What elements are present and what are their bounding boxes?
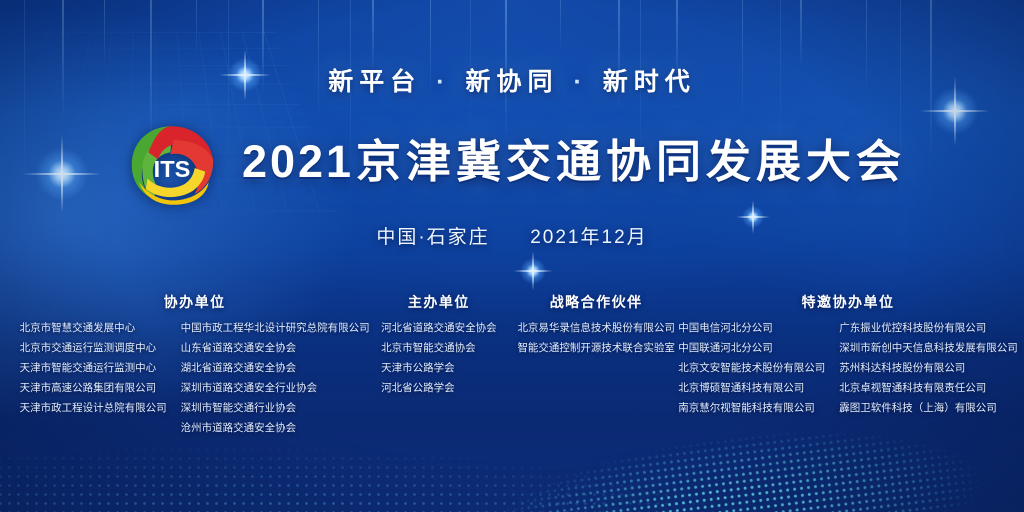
org-item: 北京市智慧交通发展中心 xyxy=(20,321,167,336)
org-item: 天津市政工程设计总院有限公司 xyxy=(20,401,167,416)
org-section-organizers: 主办单位 河北省道路交通安全协会 北京市智能交通协会 天津市公路学会 河北省公路… xyxy=(373,292,504,396)
org-column: 北京市智慧交通发展中心 北京市交通运行监测调度中心 天津市智能交通运行监测中心 … xyxy=(20,321,167,436)
org-item: 智能交通控制开源技术联合实验室 xyxy=(517,341,675,356)
title-year: 2021 xyxy=(242,136,354,187)
org-item: 中国电信河北分公司 xyxy=(678,321,825,336)
title-text: 京津冀交通协同发展大会 xyxy=(356,136,906,187)
tagline-separator: · xyxy=(571,68,589,96)
page-title: 2021京津冀交通协同发展大会 xyxy=(242,138,906,187)
org-section-invited-coorganizers: 特邀协办单位 中国电信河北分公司 中国联通河北分公司 北京文安智能技术股份有限公… xyxy=(688,292,1008,416)
org-item: 霹图卫软件科技（上海）有限公司 xyxy=(839,401,1018,416)
org-item: 深圳市智能交通行业协会 xyxy=(181,401,370,416)
event-date: 2021年12月 xyxy=(530,227,647,248)
org-column: 河北省道路交通安全协会 北京市智能交通协会 天津市公路学会 河北省公路学会 xyxy=(381,321,497,396)
org-column: 广东振业优控科技股份有限公司 深圳市新创中天信息科技发展有限公司 苏州科达科技股… xyxy=(839,321,1018,416)
org-item: 湖北省道路交通安全协会 xyxy=(181,361,370,376)
org-item: 苏州科达科技股份有限公司 xyxy=(839,361,1018,376)
tagline-separator: · xyxy=(434,68,452,96)
org-item: 北京市交通运行监测调度中心 xyxy=(20,341,167,356)
org-item: 中国联通河北分公司 xyxy=(678,341,825,356)
org-column: 北京易华录信息技术股份有限公司 智能交通控制开源技术联合实验室 xyxy=(517,321,675,356)
tagline-part-2: 新协同 xyxy=(465,68,558,96)
org-column: 中国电信河北分公司 中国联通河北分公司 北京文安智能技术股份有限公司 北京博硕智… xyxy=(678,321,825,416)
org-item: 深圳市道路交通安全行业协会 xyxy=(181,381,370,396)
org-item: 北京博硕智通科技有限公司 xyxy=(678,381,825,396)
event-location: 中国·石家庄 xyxy=(376,227,489,248)
org-section-heading: 特邀协办单位 xyxy=(802,292,895,312)
org-item: 河北省公路学会 xyxy=(381,381,497,396)
org-item: 北京市智能交通协会 xyxy=(381,341,497,356)
its-logo-text: ITS xyxy=(154,156,191,182)
its-logo: ITS xyxy=(118,114,226,210)
org-section-heading: 协办单位 xyxy=(164,292,226,312)
org-item: 中国市政工程华北设计研究总院有限公司 xyxy=(181,321,370,336)
org-item: 北京文安智能技术股份有限公司 xyxy=(678,361,825,376)
org-item: 山东省道路交通安全协会 xyxy=(181,341,370,356)
org-item: 深圳市新创中天信息科技发展有限公司 xyxy=(839,341,1018,356)
org-item: 广东振业优控科技股份有限公司 xyxy=(839,321,1018,336)
tagline-part-3: 新时代 xyxy=(603,68,696,96)
event-place-and-date: 中国·石家庄 2021年12月 xyxy=(0,222,1024,249)
org-section-strategic-partners: 战略合作伙伴 北京易华录信息技术股份有限公司 智能交通控制开源技术联合实验室 xyxy=(504,292,688,356)
org-item: 北京易华录信息技术股份有限公司 xyxy=(517,321,675,336)
org-item: 北京卓视智通科技有限责任公司 xyxy=(839,381,1018,396)
org-item: 天津市高速公路集团有限公司 xyxy=(20,381,167,396)
org-section-heading: 战略合作伙伴 xyxy=(550,292,643,312)
org-item: 南京慧尔视智能科技有限公司 xyxy=(678,401,825,416)
org-section-heading: 主办单位 xyxy=(408,292,470,312)
org-item: 天津市公路学会 xyxy=(381,361,497,376)
event-tagline: 新平台 · 新协同 · 新时代 xyxy=(0,62,1024,98)
organization-sections: 协办单位 北京市智慧交通发展中心 北京市交通运行监测调度中心 天津市智能交通运行… xyxy=(0,292,1024,452)
org-item: 河北省道路交通安全协会 xyxy=(381,321,497,336)
title-row: ITS 2021京津冀交通协同发展大会 xyxy=(0,114,1024,210)
tagline-part-1: 新平台 xyxy=(328,68,421,96)
org-column: 中国市政工程华北设计研究总院有限公司 山东省道路交通安全协会 湖北省道路交通安全… xyxy=(181,321,370,436)
org-section-coorganizers: 协办单位 北京市智慧交通发展中心 北京市交通运行监测调度中心 天津市智能交通运行… xyxy=(16,292,373,436)
conference-banner: 新平台 · 新协同 · 新时代 ITS xyxy=(0,0,1024,512)
org-item: 天津市智能交通运行监测中心 xyxy=(20,361,167,376)
org-item: 沧州市道路交通安全协会 xyxy=(181,421,370,436)
